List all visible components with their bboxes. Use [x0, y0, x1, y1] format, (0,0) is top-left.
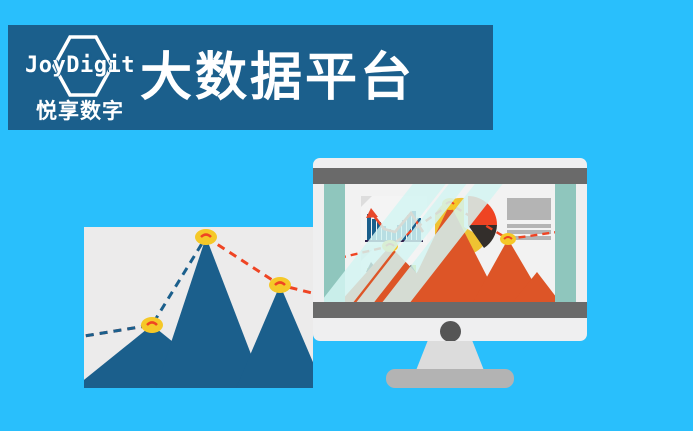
brand-logo: JoyDigit 悦享数字 — [22, 33, 138, 121]
monitor-power-button[interactable] — [440, 321, 461, 341]
data-node-marker — [141, 317, 163, 333]
data-node-marker — [500, 233, 516, 245]
left-chart-panel — [84, 227, 313, 388]
monitor-stand-base — [386, 369, 514, 388]
data-node-marker — [269, 277, 291, 293]
monitor-top-bezel — [313, 168, 587, 184]
poster-canvas: JoyDigit 悦享数字 大数据平台 — [0, 0, 693, 431]
page-title: 大数据平台 — [140, 47, 415, 109]
left-trend-line — [84, 227, 313, 388]
monitor-bottom-bezel — [313, 302, 587, 318]
data-node-marker — [195, 229, 217, 245]
logo-chinese-name: 悦享数字 — [22, 95, 138, 125]
header-banner: JoyDigit 悦享数字 大数据平台 — [8, 25, 493, 130]
monitor-frame — [313, 158, 587, 341]
logo-wordmark: JoyDigit — [22, 53, 138, 78]
monitor-screen — [324, 184, 576, 302]
